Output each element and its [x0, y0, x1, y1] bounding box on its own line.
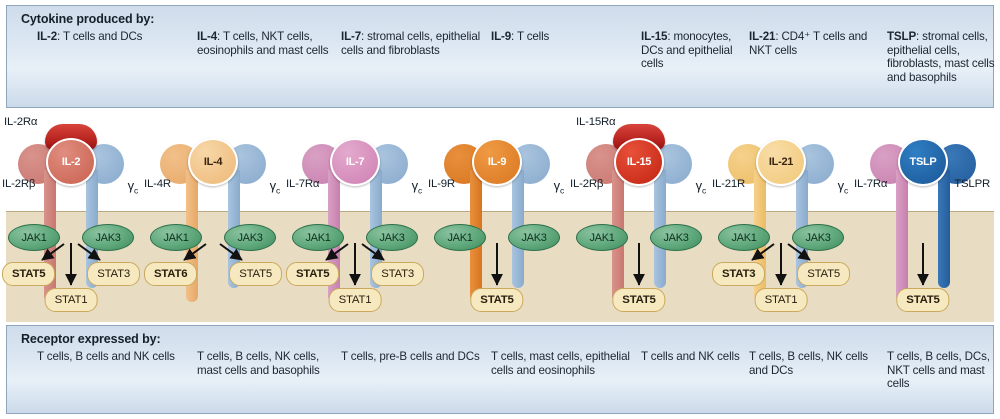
jak-kinase-right: JAK3 — [508, 224, 560, 251]
cytokine-name: IL-15 — [641, 30, 667, 43]
cytokine-source-text: : stromal cells, epithelial cells and fi… — [341, 30, 480, 57]
cytokine-source-item: IL-9: T cells — [491, 30, 631, 44]
right-chain-name: γc — [696, 178, 706, 196]
top-panel-heading: Cytokine produced by: — [21, 12, 154, 26]
stat-transcription-factor: STAT1 — [755, 288, 808, 312]
jak-kinase-left: JAK1 — [434, 224, 486, 251]
cytokine-ball: IL-7 — [330, 138, 380, 186]
right-chain-name: TSLPR — [954, 178, 990, 190]
cytokine-name: TSLP — [887, 30, 916, 43]
jak-kinase-left: JAK1 — [576, 224, 628, 251]
cytokine-name: IL-21 — [749, 30, 775, 43]
receptor-column-il9: IL-9IL-9RγcJAK1JAK3 STAT5 — [426, 110, 568, 315]
left-chain-name: IL-4R — [144, 178, 171, 190]
receptor-expression-item: T cells, B cells, DCs, NKT cells and mas… — [887, 350, 997, 391]
left-chain-name: IL-7Rα — [854, 178, 887, 190]
stat-transcription-factor: STAT5 — [286, 262, 339, 286]
jak-kinase-right: JAK3 — [650, 224, 702, 251]
stat-transcription-factor: STAT6 — [144, 262, 197, 286]
stat-transcription-factor: STAT5 — [470, 288, 523, 312]
stat-transcription-factor: STAT5 — [2, 262, 55, 286]
cytokine-source-item: IL-4: T cells, NKT cells, eosinophils an… — [197, 30, 332, 57]
cytokine-source-text: : T cells and DCs — [57, 30, 142, 43]
cytokine-ball: IL-21 — [756, 138, 806, 186]
alpha-chain-label: IL-2Rα — [4, 116, 37, 128]
cytokine-source-item: TSLP: stromal cells, epithelial cells, f… — [887, 30, 997, 84]
left-chain-name: IL-21R — [712, 178, 745, 190]
receptor-column-il7: IL-7IL-7RαγcJAK1JAK3 STAT5STAT3STAT1 — [284, 110, 426, 315]
jak-kinase-right: JAK3 — [224, 224, 276, 251]
cytokine-source-text: : T cells, NKT cells, eosinophils and ma… — [197, 30, 328, 57]
receptor-column-il4: IL-4IL-4RγcJAK1JAK3 STAT6STAT5 — [142, 110, 284, 315]
bottom-panel-heading: Receptor expressed by: — [21, 332, 161, 346]
receptor-column-il2: IL-2Rα IL-2IL-2RβγcJAK1JAK3 STAT5STAT3ST… — [0, 110, 142, 315]
receptor-expression-item: T cells, pre-B cells and DCs — [341, 350, 481, 364]
right-chain-name: γc — [270, 178, 280, 196]
cytokine-ball: IL-2 — [46, 138, 96, 186]
left-chain-name: IL-2Rβ — [570, 178, 603, 190]
stat-transcription-factor: STAT5 — [612, 288, 665, 312]
jak-kinase-left: JAK1 — [8, 224, 60, 251]
cytokine-ball: IL-4 — [188, 138, 238, 186]
stat-transcription-factor: STAT5 — [229, 262, 282, 286]
jak-kinase-left: JAK1 — [292, 224, 344, 251]
jak-kinase-right: JAK3 — [792, 224, 844, 251]
receptor-expression-item: T cells, B cells, NK cells and DCs — [749, 350, 879, 377]
left-chain-name: IL-9R — [428, 178, 455, 190]
right-chain-name: γc — [554, 178, 564, 196]
alpha-chain-label: IL-15Rα — [576, 116, 615, 128]
cytokine-name: IL-2 — [37, 30, 57, 43]
cytokine-ball: TSLP — [898, 138, 948, 186]
stat-transcription-factor: STAT5 — [896, 288, 949, 312]
jak-kinase-right: JAK3 — [82, 224, 134, 251]
cytokine-produced-by-panel: Cytokine produced by: IL-2: T cells and … — [6, 5, 994, 108]
jak-kinase-left: JAK1 — [718, 224, 770, 251]
cytokine-source-text: : T cells — [511, 30, 549, 43]
stat-transcription-factor: STAT3 — [712, 262, 765, 286]
cytokine-source-item: IL-7: stromal cells, epithelial cells an… — [341, 30, 481, 57]
stat-transcription-factor: STAT3 — [371, 262, 424, 286]
cytokine-name: IL-9 — [491, 30, 511, 43]
stat-transcription-factor: STAT1 — [329, 288, 382, 312]
cytokine-name: IL-7 — [341, 30, 361, 43]
cytokine-source-item: IL-2: T cells and DCs — [37, 30, 177, 44]
left-chain-name: IL-7Rα — [286, 178, 319, 190]
cytokine-name: IL-4 — [197, 30, 217, 43]
stat-transcription-factor: STAT3 — [87, 262, 140, 286]
cytokine-receptor-figure: Cytokine produced by: IL-2: T cells and … — [0, 0, 1000, 419]
receptor-expression-item: T cells, B cells and NK cells — [37, 350, 177, 364]
right-chain-name: γc — [838, 178, 848, 196]
receptor-expression-item: T cells and NK cells — [641, 350, 741, 364]
jak-kinase-right: JAK3 — [366, 224, 418, 251]
cytokine-source-item: IL-21: CD4⁺ T cells and NKT cells — [749, 30, 879, 57]
cytokine-source-item: IL-15: monocytes, DCs and epithelial cel… — [641, 30, 741, 71]
cytokine-ball: IL-15 — [614, 138, 664, 186]
receptor-expressed-by-panel: Receptor expressed by: T cells, B cells … — [6, 325, 994, 414]
cytokine-ball: IL-9 — [472, 138, 522, 186]
stat-transcription-factor: STAT1 — [45, 288, 98, 312]
stat-transcription-factor: STAT5 — [797, 262, 850, 286]
jak-kinase-left: JAK1 — [150, 224, 202, 251]
receptor-expression-item: T cells, mast cells, epithelial cells an… — [491, 350, 631, 377]
receptor-expression-item: T cells, B cells, NK cells, mast cells a… — [197, 350, 332, 377]
right-chain-name: γc — [412, 178, 422, 196]
receptor-column-il15: IL-15Rα IL-15IL-2RβγcJAK1JAK3 STAT5 — [568, 110, 710, 315]
receptor-column-tslp: TSLPIL-7RαTSLPR STAT5 — [852, 110, 994, 315]
right-chain-name: γc — [128, 178, 138, 196]
bottom-panel-columns: T cells, B cells and NK cellsT cells, B … — [7, 350, 993, 419]
receptor-column-il21: IL-21IL-21RγcJAK1JAK3 STAT3STAT5STAT1 — [710, 110, 852, 315]
left-chain-name: IL-2Rβ — [2, 178, 35, 190]
